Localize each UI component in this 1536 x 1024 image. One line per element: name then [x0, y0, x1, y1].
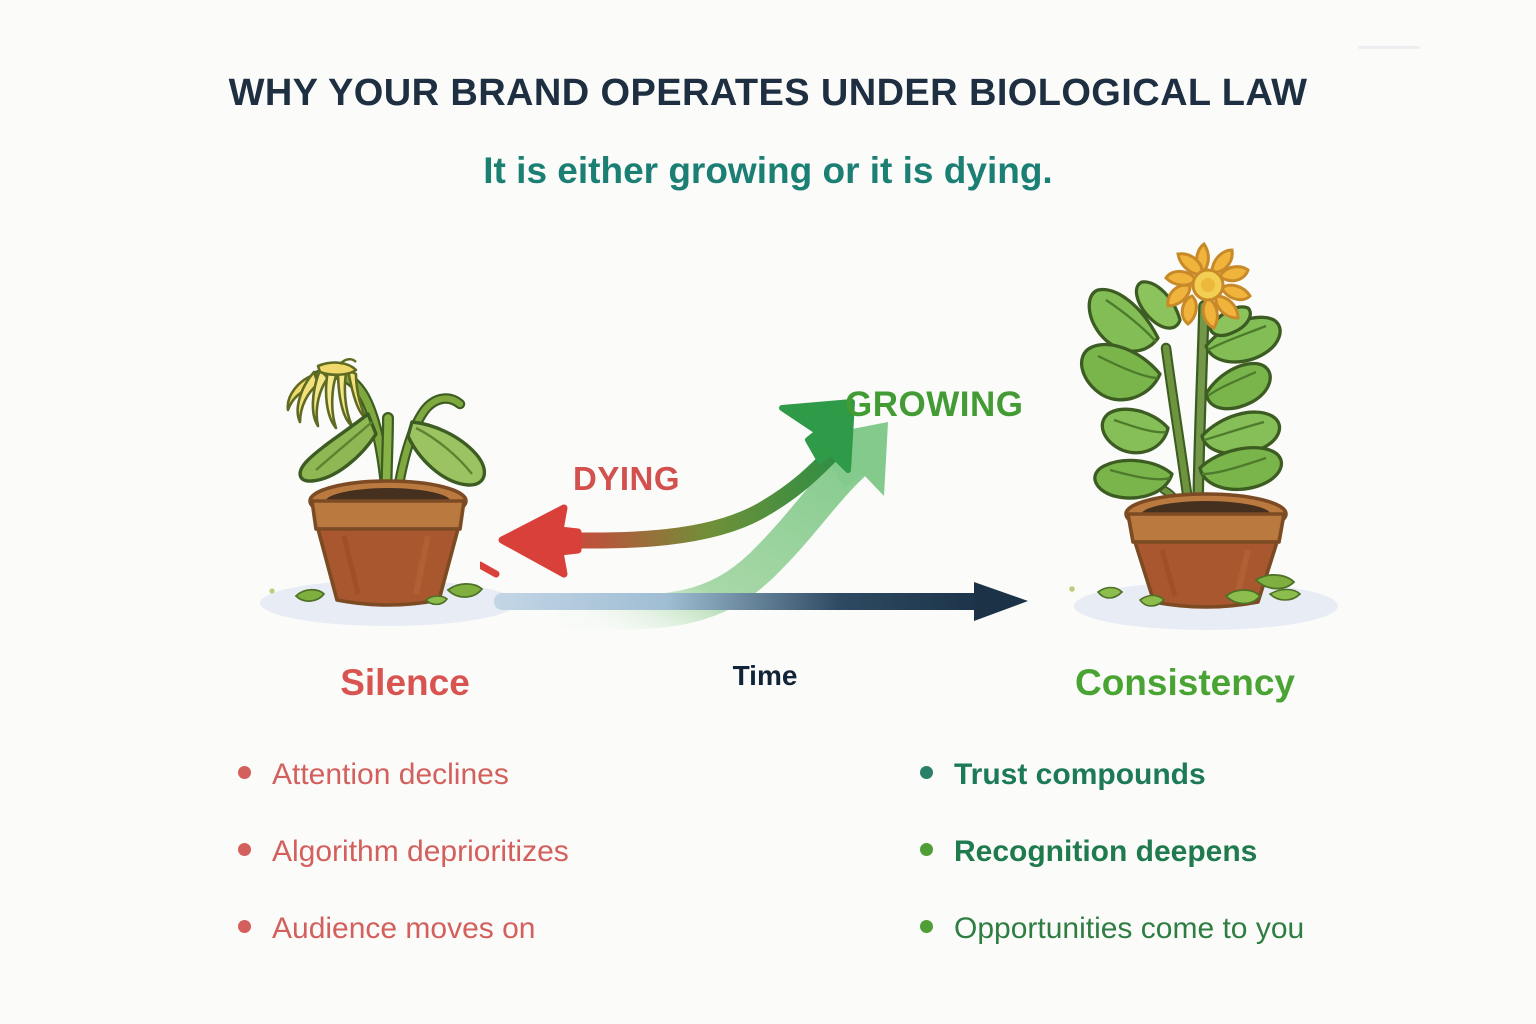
- list-item: Audience moves on: [238, 912, 758, 989]
- bullet-dot-icon: [238, 920, 251, 933]
- list-item-label: Attention declines: [272, 758, 509, 792]
- bullet-dot-icon: [920, 920, 933, 933]
- growing-label: GROWING: [845, 385, 1023, 425]
- list-item-label: Opportunities come to you: [954, 912, 1304, 946]
- list-item-label: Recognition deepens: [954, 835, 1257, 869]
- wilted-flower: [288, 359, 366, 428]
- caption-consistency: Consistency: [1025, 662, 1345, 704]
- list-item: Trust compounds: [920, 758, 1480, 835]
- terracotta-pot: [1126, 494, 1286, 607]
- bullet-dot-icon: [920, 843, 933, 856]
- bullet-dot-icon: [238, 843, 251, 856]
- wilting-leaf-right: [408, 422, 484, 485]
- thriving-plant-illustration: [1056, 228, 1346, 640]
- growing-arrow-dark-head: [782, 402, 852, 470]
- page-subtitle: It is either growing or it is dying.: [0, 150, 1536, 192]
- list-item-label: Audience moves on: [272, 912, 536, 946]
- dying-label: DYING: [573, 460, 680, 498]
- page-title: WHY YOUR BRAND OPERATES UNDER BIOLOGICAL…: [0, 72, 1536, 115]
- list-item-label: Trust compounds: [954, 758, 1206, 792]
- consistency-bullet-list: Trust compounds Recognition deepens Oppo…: [920, 758, 1480, 989]
- caption-silence: Silence: [245, 662, 565, 704]
- list-item: Algorithm deprioritizes: [238, 835, 758, 912]
- infographic-canvas: WHY YOUR BRAND OPERATES UNDER BIOLOGICAL…: [0, 0, 1536, 1024]
- caption-time: Time: [640, 660, 890, 692]
- terracotta-pot: [310, 481, 466, 605]
- list-item: Opportunities come to you: [920, 912, 1480, 989]
- list-item: Recognition deepens: [920, 835, 1480, 912]
- list-item: Attention declines: [238, 758, 758, 835]
- list-item-label: Algorithm deprioritizes: [272, 835, 569, 869]
- bullet-dot-icon: [238, 766, 251, 779]
- silence-bullet-list: Attention declines Algorithm deprioritiz…: [238, 758, 758, 989]
- healthy-stems: [1164, 306, 1204, 520]
- wilting-leaf-left: [300, 414, 376, 481]
- bullet-dot-icon: [920, 766, 933, 779]
- top-divider-rule: [1358, 46, 1420, 49]
